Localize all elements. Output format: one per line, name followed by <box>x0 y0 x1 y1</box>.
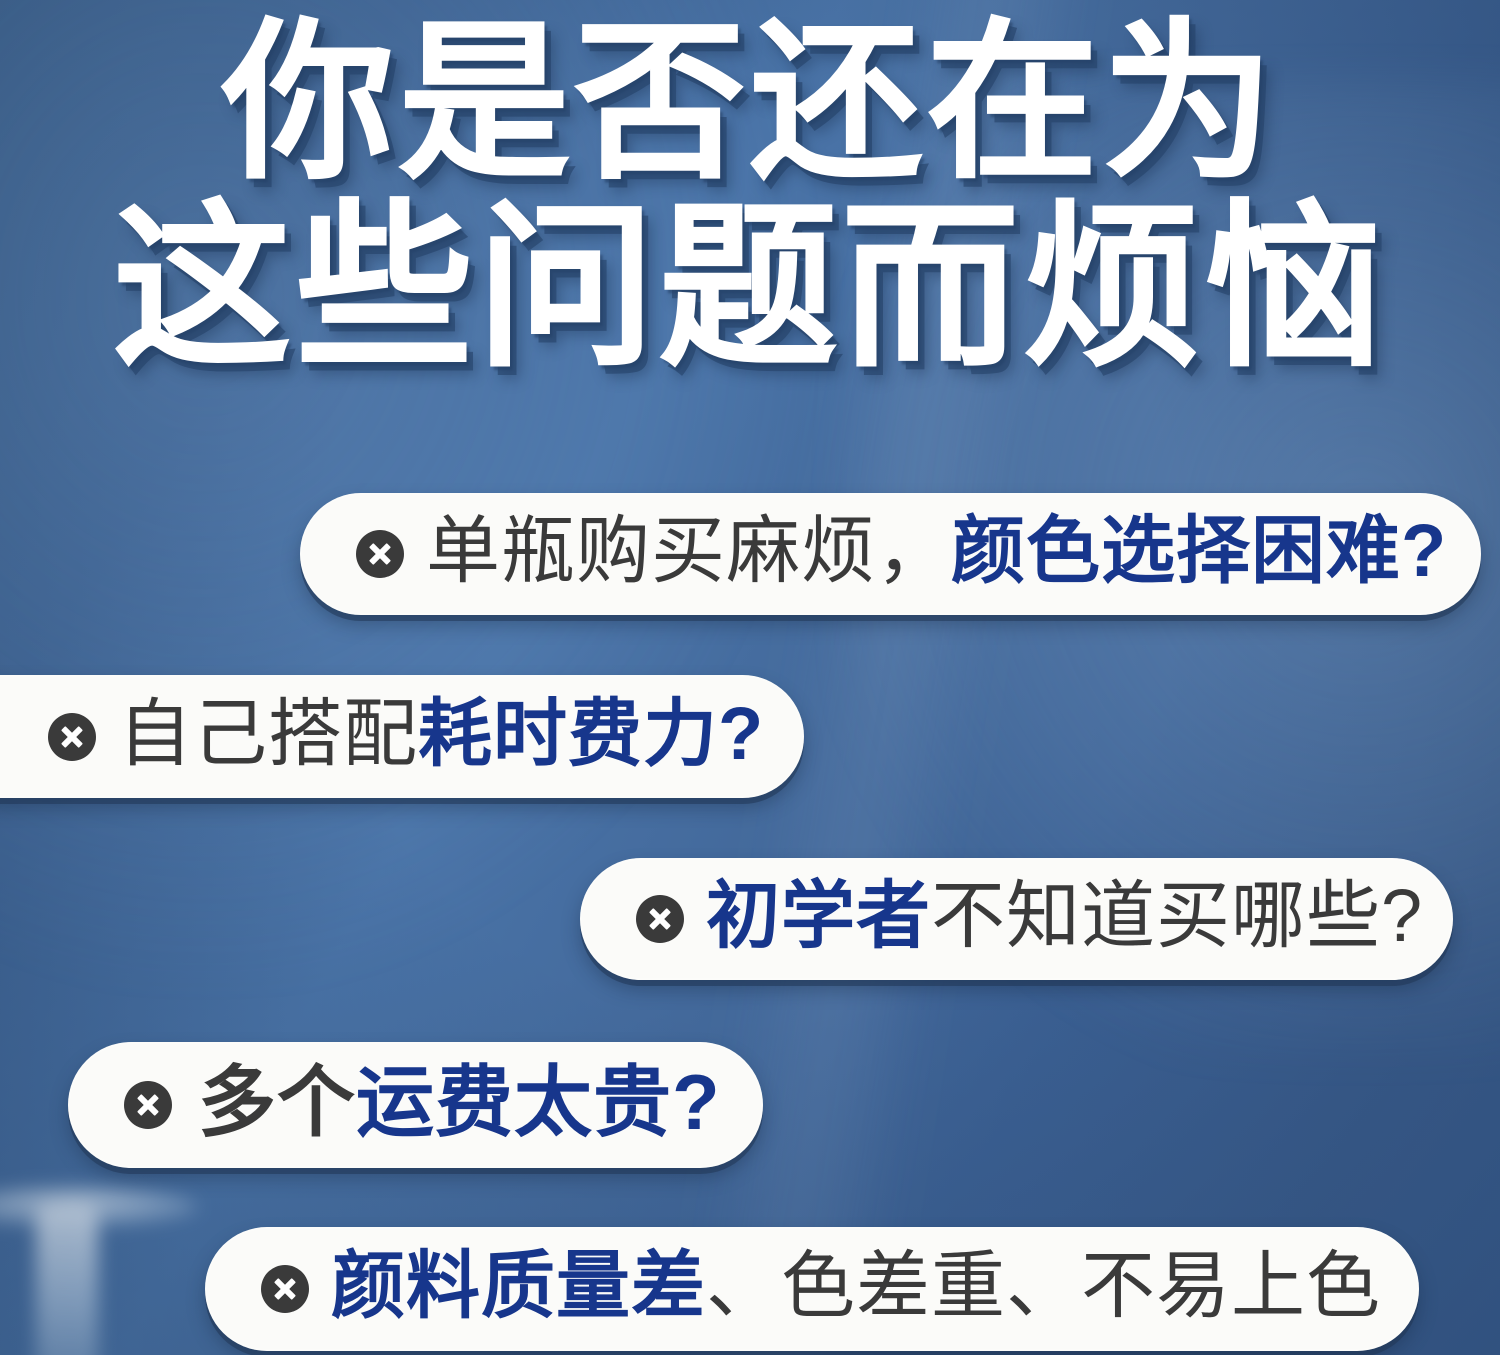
x-circle-icon <box>636 895 684 943</box>
x-circle-icon <box>124 1081 172 1129</box>
pain-point-pill-4: 多个 运费太贵? <box>68 1042 763 1168</box>
x-circle-icon <box>261 1265 309 1313</box>
pill-2-segment-1: 自己搭配 <box>118 697 418 777</box>
pill-5-segment-1: 颜料质量差 <box>331 1249 706 1329</box>
pain-point-pill-1: 单瓶购买麻烦， 颜色选择困难? <box>300 493 1481 615</box>
pill-3-segment-2: 不知道买哪些? <box>931 879 1423 959</box>
pill-2-segment-2: 耗时费力? <box>418 697 764 777</box>
pill-3-segment-1: 初学者 <box>706 879 931 959</box>
promo-poster: 你是否还在为 这些问题而烦恼 单瓶购买麻烦， 颜色选择困难? 自己搭配 耗时费力… <box>0 0 1500 1355</box>
headline-line-1: 你是否还在为 <box>0 16 1500 191</box>
pain-point-pill-3: 初学者 不知道买哪些? <box>580 858 1453 980</box>
x-circle-icon <box>48 713 96 761</box>
pill-5-segment-2: 、色差重、不易上色 <box>706 1249 1381 1329</box>
pain-point-pill-5: 颜料质量差 、色差重、不易上色 <box>205 1227 1419 1351</box>
headline: 你是否还在为 这些问题而烦恼 <box>0 16 1500 379</box>
pill-4-segment-1: 多个 <box>198 1063 356 1147</box>
pill-4-segment-2: 运费太贵? <box>356 1063 721 1147</box>
pain-point-pill-2: 自己搭配 耗时费力? <box>0 675 804 798</box>
x-circle-icon <box>356 530 404 578</box>
pill-1-segment-1: 单瓶购买麻烦， <box>426 514 951 594</box>
pill-1-segment-2: 颜色选择困难? <box>951 514 1447 594</box>
headline-line-2: 这些问题而烦恼 <box>0 197 1500 379</box>
